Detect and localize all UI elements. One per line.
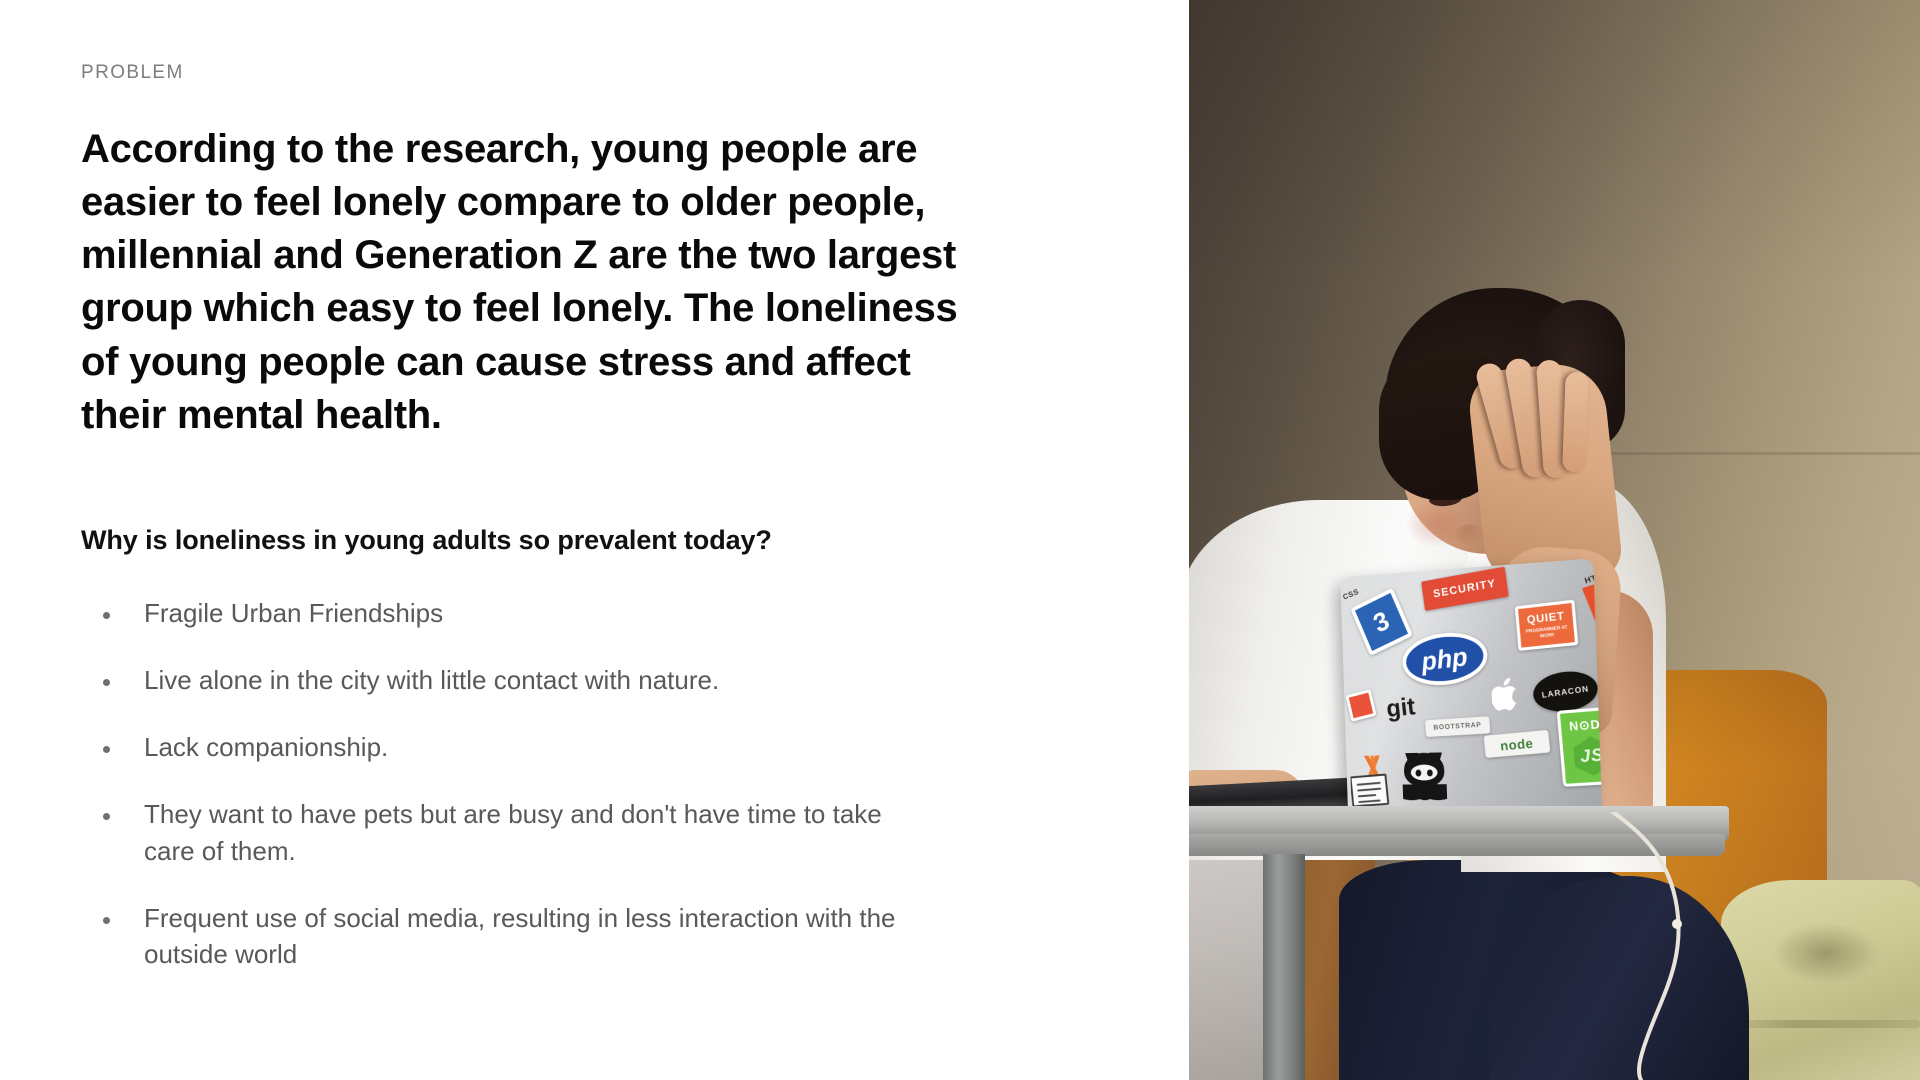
page-title: According to the research, young people … xyxy=(81,123,966,442)
laracon-sticker-label: LARACON xyxy=(1541,684,1589,700)
git-sticker-label: git xyxy=(1385,692,1416,723)
git-sticker: git xyxy=(1351,692,1417,728)
octocat-eye-icon xyxy=(1415,770,1421,777)
octocat-eye-icon xyxy=(1427,769,1433,776)
book-line xyxy=(1357,782,1381,786)
security-sticker-label: SECURITY xyxy=(1433,578,1497,601)
bullet-dot-icon xyxy=(103,679,110,686)
list-item: They want to have pets but are busy and … xyxy=(81,796,1109,870)
node-js-hex-sticker: N⊙DE JS xyxy=(1557,706,1603,787)
reasons-list: Fragile Urban Friendships Live alone in … xyxy=(81,595,1109,973)
finger xyxy=(1562,372,1588,473)
nose xyxy=(1455,524,1485,546)
bullet-dot-icon xyxy=(103,612,110,619)
octocat-ear-icon xyxy=(1404,752,1420,761)
bootstrap-sticker-label: BOOTSTRAP xyxy=(1433,722,1482,732)
book-sticker xyxy=(1350,755,1396,806)
book-line xyxy=(1358,794,1377,797)
subheading-question: Why is loneliness in young adults so pre… xyxy=(81,523,1109,558)
bullet-dot-icon xyxy=(103,813,110,820)
stressed-young-man-photo: 3 CSS SECURITY QUIET PROGRAMMER AT WORK … xyxy=(1189,0,1920,1080)
book-line xyxy=(1358,799,1380,803)
list-item-label: Frequent use of social media, resulting … xyxy=(144,900,904,974)
list-item: Fragile Urban Friendships xyxy=(81,595,1109,632)
list-item-label: Lack companionship. xyxy=(144,729,388,766)
octocat-head-icon xyxy=(1404,752,1445,786)
book-page-icon xyxy=(1350,774,1390,807)
desk-leg xyxy=(1263,854,1305,1080)
yellow-cushion-shading xyxy=(1772,922,1880,984)
node-js-hex-sticker-label: N⊙DE xyxy=(1569,716,1603,734)
php-sticker-label: php xyxy=(1420,643,1469,674)
presentation-slide: PROBLEM According to the research, young… xyxy=(0,0,1920,1080)
octocat-ear-icon xyxy=(1428,752,1444,761)
desk-edge xyxy=(1189,834,1725,856)
bullet-dot-icon xyxy=(103,917,110,924)
laptop-lid: 3 CSS SECURITY QUIET PROGRAMMER AT WORK … xyxy=(1340,558,1602,820)
section-eyebrow-label: PROBLEM xyxy=(81,62,1109,85)
list-item: Lack companionship. xyxy=(81,729,1109,766)
css3-sticker-label: 3 xyxy=(1370,607,1393,637)
list-item-label: Live alone in the city with little conta… xyxy=(144,662,719,699)
apple-logo-sticker xyxy=(1488,672,1526,718)
book-line xyxy=(1357,788,1381,792)
list-item-label: They want to have pets but are busy and … xyxy=(144,796,904,870)
list-item: Live alone in the city with little conta… xyxy=(81,662,1109,699)
node-js-hex-sticker-sublabel: JS xyxy=(1573,735,1603,777)
content-panel: PROBLEM According to the research, young… xyxy=(0,0,1189,1080)
octocat-face-icon xyxy=(1411,764,1438,780)
nodejs-sticker-label: node xyxy=(1499,735,1533,753)
bullet-dot-icon xyxy=(103,746,110,753)
list-item-label: Fragile Urban Friendships xyxy=(144,595,443,632)
quiet-sticker: QUIET PROGRAMMER AT WORK xyxy=(1515,600,1579,651)
list-item: Frequent use of social media, resulting … xyxy=(81,900,1109,974)
